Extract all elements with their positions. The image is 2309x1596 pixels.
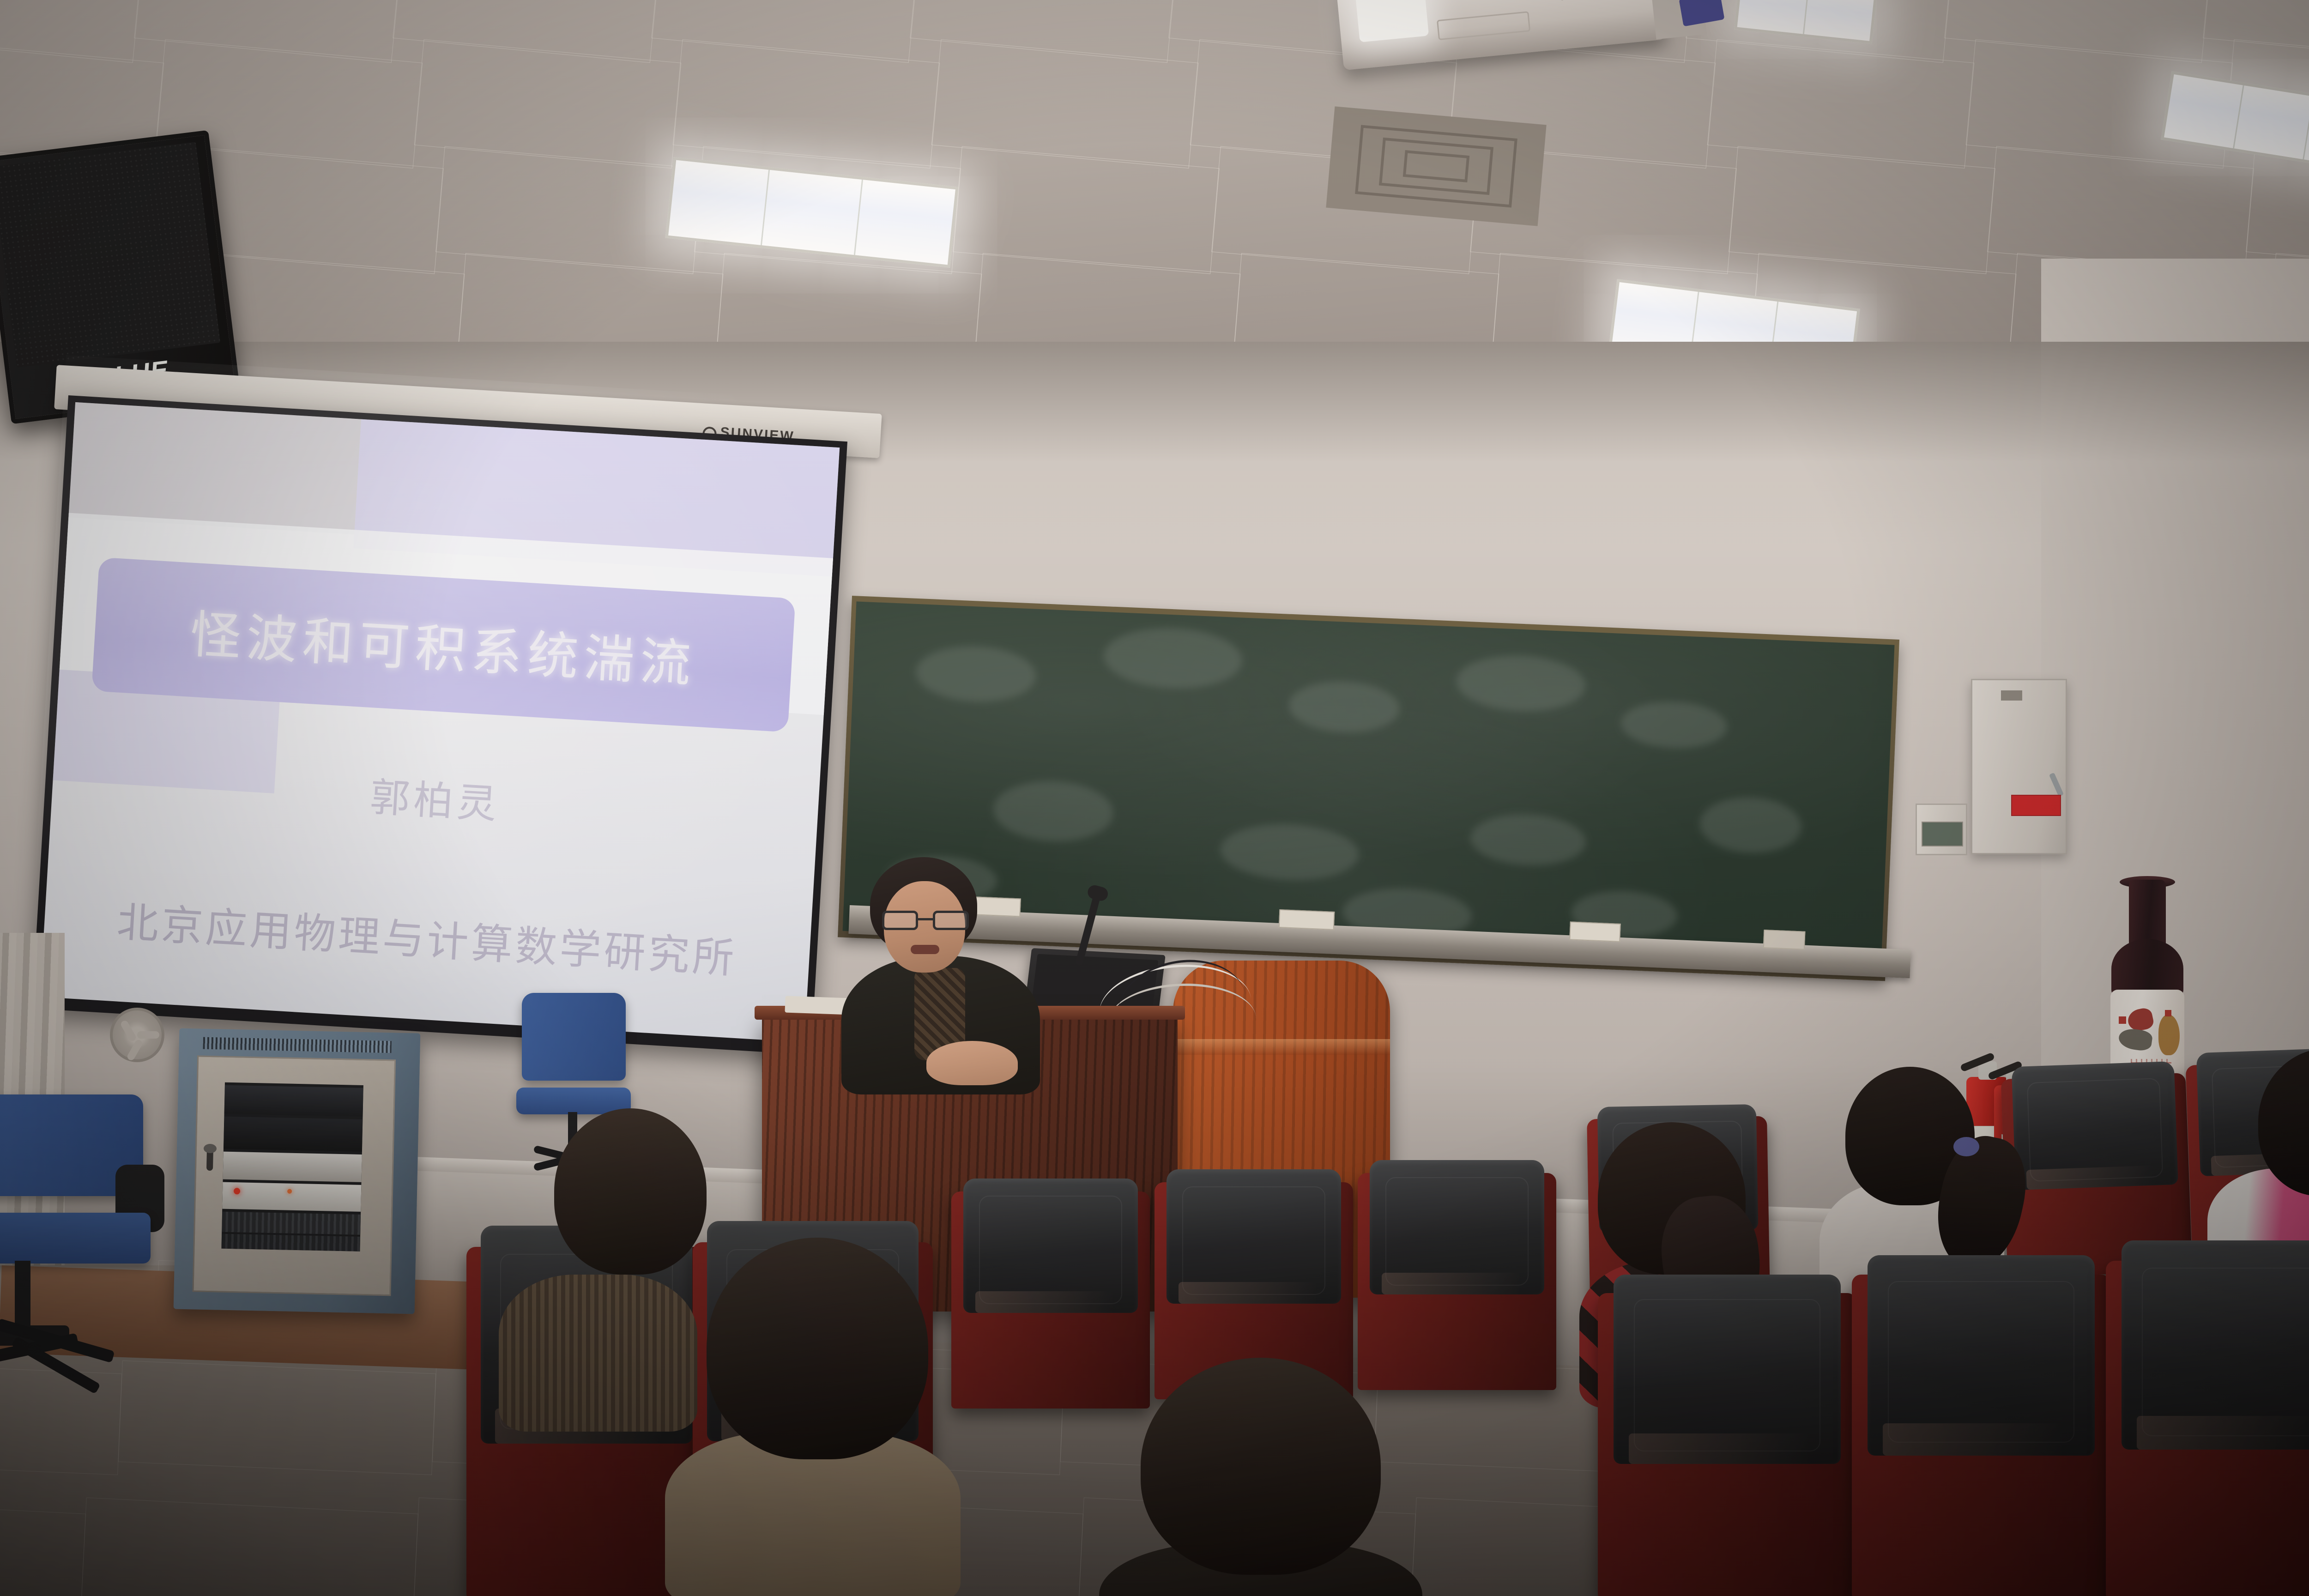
chalk-box-2 [1279,909,1335,930]
projector-vent [1437,11,1530,40]
floor-tile [80,1498,418,1596]
audience-hair [707,1238,928,1459]
rack-louvre-vent [203,1037,391,1053]
av-equipment-rack[interactable] [174,1028,421,1314]
rack-unit-mixer [224,1117,363,1152]
rack-unit-amplifier [224,1085,363,1117]
chalk-smudge [1219,822,1360,883]
rack-unit-dvd-player [223,1152,362,1182]
projector-lens [1354,0,1429,42]
speaker-grille [0,142,220,368]
slide-decor-block-a [68,402,361,534]
chair-seat [0,1213,151,1263]
audience-hair [1141,1358,1381,1575]
electrical-panel[interactable] [1971,679,2067,854]
projection-screen-surface: 怪波和可积系统湍流 郭柏灵 北京应用物理与计算数学研究所 2017. 8 [40,402,840,1042]
auditorium-seat[interactable] [1598,1293,1856,1596]
wall-control-panel[interactable] [1916,804,1967,855]
presenter-glasses [882,911,969,930]
chalk-smudge [992,779,1114,844]
vase-horse-motif-tan [2158,1015,2180,1055]
panel-warning-label [2011,795,2061,816]
rack-glass-window [221,1082,363,1251]
vase-seal-2 [2165,1010,2171,1016]
panel-tag [2001,690,2022,701]
slide-author-text: 郭柏灵 [52,746,819,849]
chalk-smudge [1102,625,1243,691]
chalk-smudge [915,644,1037,704]
blue-office-chair-2[interactable] [0,1094,175,1469]
auditorium-seat[interactable] [1852,1275,2110,1596]
slide-title-text: 怪波和可积系统湍流 [188,593,699,697]
audience-member-khaki-jacket [665,1238,1007,1596]
audience-hair-tie [1953,1137,1979,1156]
fan-blade [126,1039,144,1062]
auditorium-seat[interactable] [2106,1261,2309,1596]
chalk-smudge [1455,653,1587,714]
lecture-hall-photo: HITACHI D-BLUE SUNVIEW 怪波和可积系统湍流 郭柏灵 北京应… [0,0,2309,1596]
projection-screen-frame: 怪波和可积系统湍流 郭柏灵 北京应用物理与计算数学研究所 2017. 8 [32,395,847,1055]
fan-blade [120,1019,137,1042]
chair-back [522,993,626,1081]
wall-vent-fan [110,1008,164,1062]
slide-institution-text: 北京应用物理与计算数学研究所 [43,884,811,989]
chalk-smudge [1699,795,1802,855]
presenter [845,859,1085,1081]
eraser [1763,930,1806,950]
fan-blade [137,1031,159,1039]
presenter-hands [926,1041,1018,1085]
presenter-mouth [911,945,939,954]
vase-seal-1 [2119,1016,2126,1024]
audience-member-front-center [1099,1358,1432,1596]
chalk-smudge [1620,700,1728,750]
rack-unit-controller [222,1182,361,1212]
air-vent-1 [1326,106,1546,226]
rack-unit-patch-panel-2 [221,1234,360,1251]
panel-handle-icon[interactable] [2049,773,2064,797]
rack-door[interactable] [192,1055,396,1296]
rack-lock-icon[interactable] [206,1149,213,1171]
chalk-smudge [1288,679,1401,734]
rack-unit-patch-panel-1 [222,1212,361,1235]
vase-horse-motif-grey [2117,1027,2153,1052]
control-panel-display [1922,822,1963,846]
chalk-smudge [1469,812,1587,867]
chalk-box-3 [1569,921,1621,942]
floor-tile [0,1498,86,1596]
projector-brand-label: HITACHI [1559,0,1607,3]
